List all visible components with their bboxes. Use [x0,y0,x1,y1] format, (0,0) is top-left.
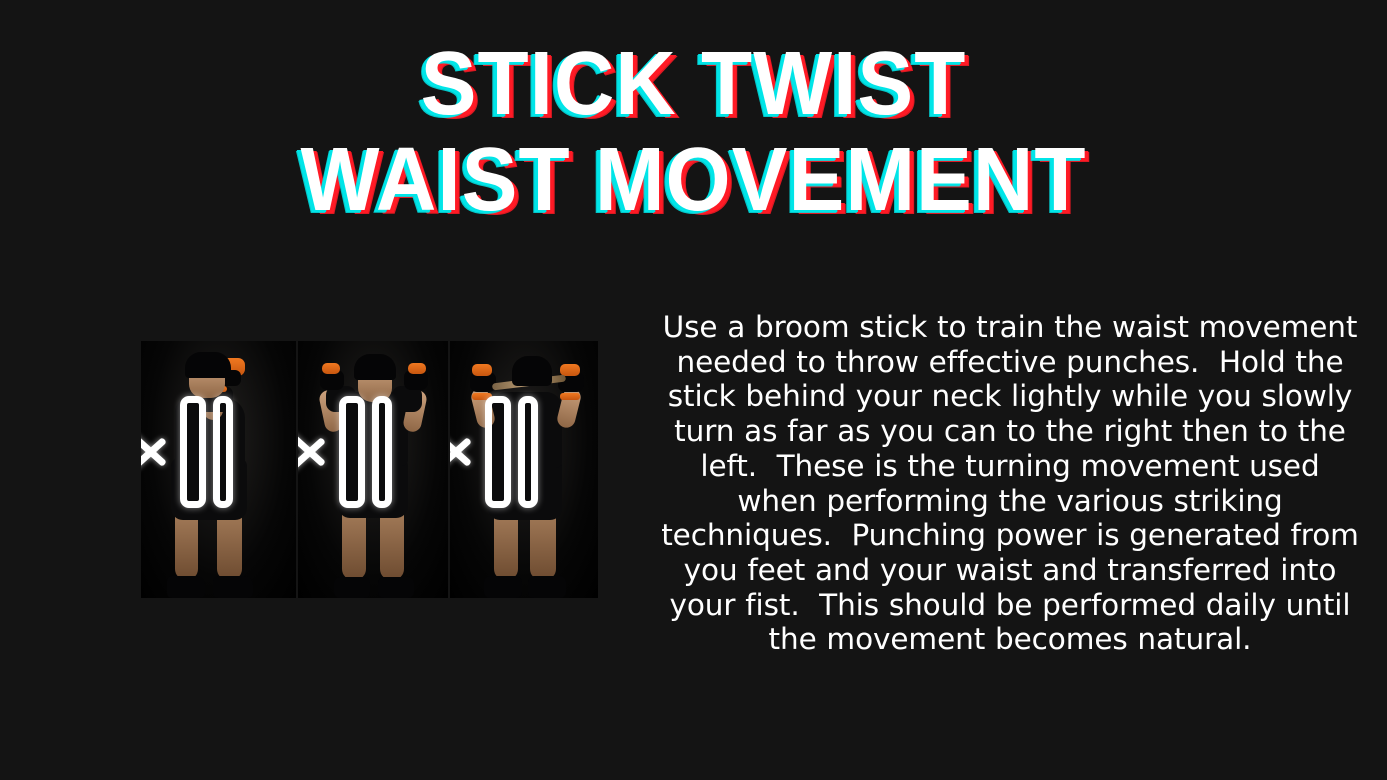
boxer-figure-side [159,348,279,598]
collage-panel-back-view [450,341,598,598]
body-paragraph: Use a broom stick to train the waist mov… [660,310,1360,657]
slide-canvas: STICK TWIST WAIST MOVEMENT [0,0,1387,780]
title-line-1: STICK TWIST [49,40,1339,128]
collage-panel-side-view [141,341,296,598]
page-title: STICK TWIST WAIST MOVEMENT [0,40,1387,224]
stick-twist-photo-collage [141,341,598,598]
collage-panel-front-view [298,341,448,598]
title-line-2: WAIST MOVEMENT [49,136,1339,224]
boxer-figure-back [468,346,594,598]
boxer-figure-front [320,346,440,598]
